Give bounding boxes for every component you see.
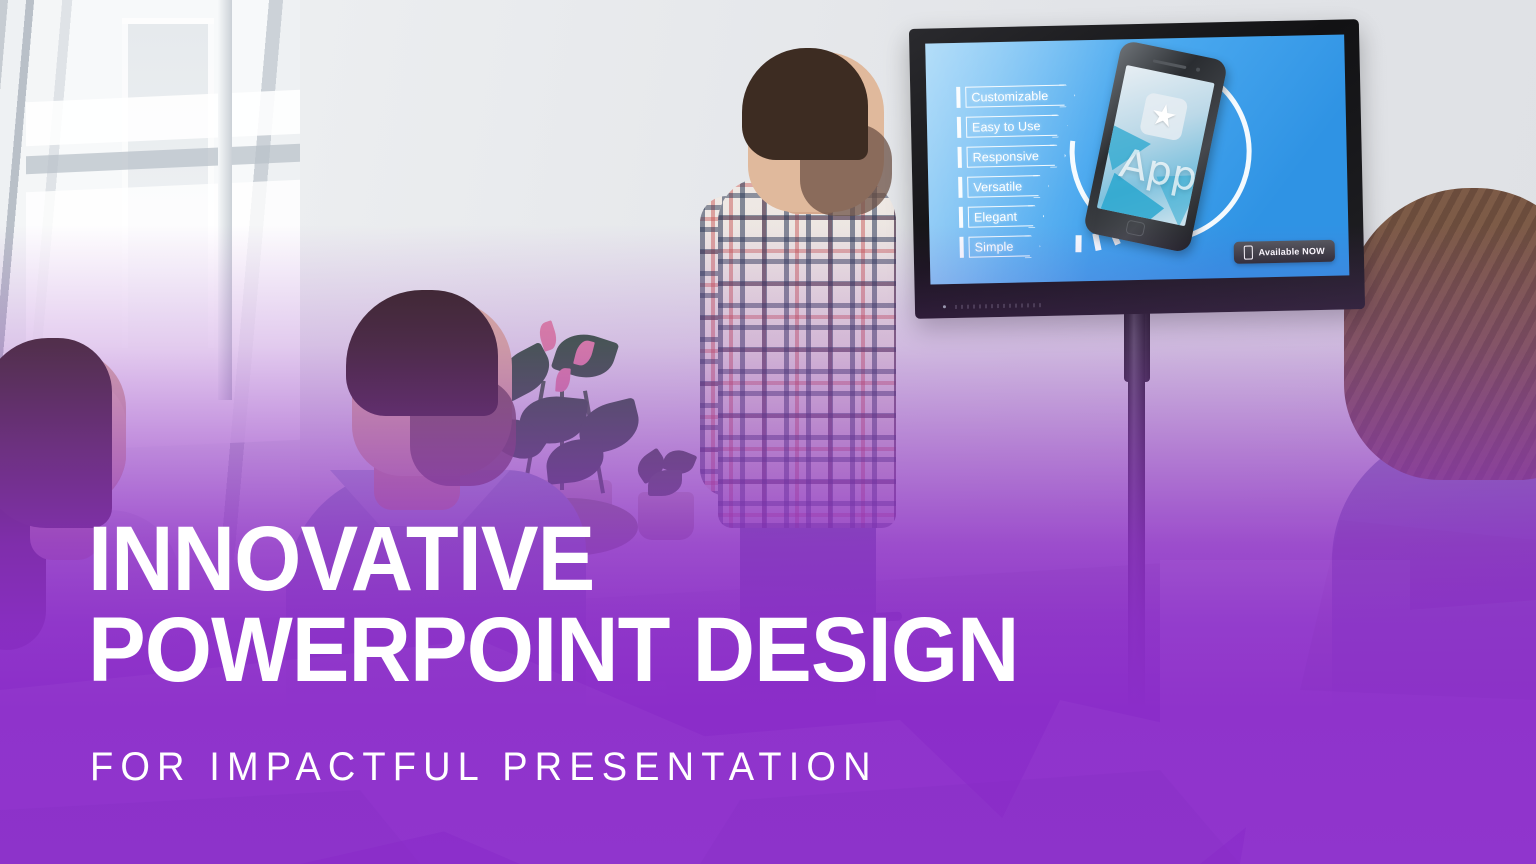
polygon-shape <box>1300 520 1536 700</box>
presentation-slide: Customizable Easy to Use Responsive <box>0 0 1536 864</box>
slide-subtitle: FOR IMPACTFUL PRESENTATION <box>90 745 878 790</box>
title-line-1: INNOVATIVE <box>88 514 1141 605</box>
slide-title-block: INNOVATIVE POWERPOINT DESIGN <box>88 514 1208 696</box>
title-line-2: POWERPOINT DESIGN <box>88 605 1141 696</box>
geometric-polygon-overlay <box>0 0 1536 864</box>
